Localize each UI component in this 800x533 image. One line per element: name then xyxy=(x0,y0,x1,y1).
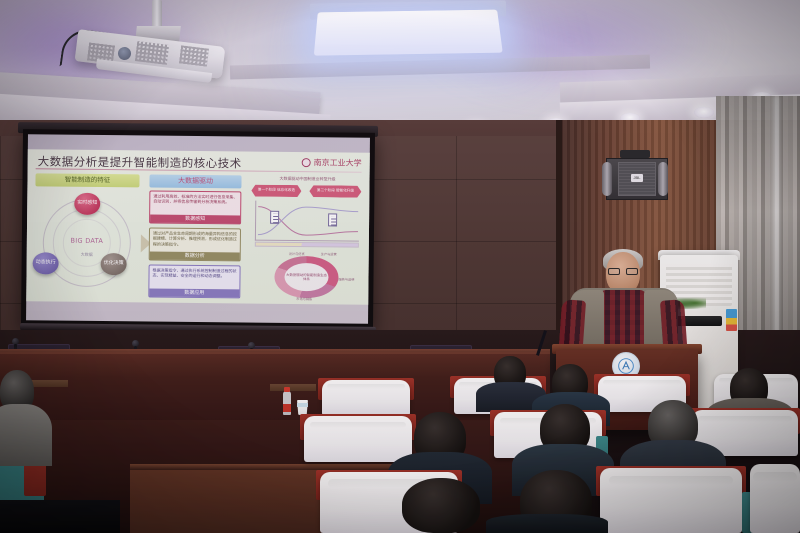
cycle-diagram: BIG DATA 大数据 实时感知 动态执行 优化决策 xyxy=(34,190,139,295)
podium-crest-icon xyxy=(618,358,634,374)
data-sensing-label: 数据感知 xyxy=(150,214,240,223)
data-analysis-text: 通过对产品全生命周期形成的海量异构信息的挖掘建模、计算分析、推理预测，形成优化制… xyxy=(153,231,237,247)
downlight xyxy=(694,107,714,118)
university-crest-icon xyxy=(302,158,311,167)
projector-vent xyxy=(179,45,209,66)
data-application-label: 数据应用 xyxy=(149,288,239,297)
slide-middle-column: 大数据驱动 通过利用高效、标准的方法实时进行信息采集、自动识别，并将信息传输到分… xyxy=(148,174,241,301)
cycle-node-optimized-decision: 优化决策 xyxy=(101,253,127,275)
timeline-band xyxy=(255,242,359,248)
university-name: 南京工业大学 xyxy=(314,157,362,169)
data-analysis-label: 数据分析 xyxy=(150,251,240,260)
audience-shoulders xyxy=(0,404,52,466)
projected-slide: 大数据分析是提升智能制造的核心技术 南京工业大学 智能制造的特征 BIG DAT… xyxy=(26,149,370,305)
slide-university-logo: 南京工业大学 xyxy=(302,157,362,169)
donut-label-0: 设计与仿真 xyxy=(289,251,305,256)
chart-icon-right xyxy=(328,213,337,226)
bottle-cap xyxy=(284,387,290,392)
projection-screen: 大数据分析是提升智能制造的核心技术 南京工业大学 智能制造的特征 BIG DAT… xyxy=(21,129,375,329)
data-application-box: 根据决策指令，通过执行系统控制制造过程的状态、实现精益、安全的运行和动态调整。 … xyxy=(148,264,240,298)
data-analysis-box: 通过对产品全生命周期形成的海量异构信息的挖掘建模、计算分析、推理预测，形成优化制… xyxy=(149,227,241,261)
donut-label-1: 生产与运营 xyxy=(321,251,337,256)
jbl-logo: JBL xyxy=(631,174,643,182)
audience-head xyxy=(402,478,480,533)
audience-seat xyxy=(750,464,800,533)
ac-energy-label xyxy=(726,309,737,331)
speaker-cylinder-left xyxy=(602,162,612,196)
slide-left-column: 智能制造的特征 BIG DATA 大数据 实时感知 动态执行 优化决策 xyxy=(34,173,139,300)
ceiling-light-panel xyxy=(314,10,503,56)
water-bottle xyxy=(283,391,291,415)
data-sensing-text: 通过利用高效、标准的方法实时进行信息采集、自动识别，并将信息传输到分析决策系统。 xyxy=(153,194,237,205)
speaker-cylinder-right xyxy=(658,162,668,196)
phase-one-arrow: 第一个阶段 信息化改造 xyxy=(251,185,301,198)
phase-two-arrow: 第二个阶段 智能化升级 xyxy=(309,185,361,198)
projector-vent xyxy=(135,41,169,65)
middle-column-header: 大数据驱动 xyxy=(149,174,241,188)
donut-center-label: 大数据驱动的智能制造生态体系 xyxy=(284,263,328,291)
foreground-shadow xyxy=(0,500,120,533)
ecosystem-donut-diagram: 大数据驱动的智能制造生态体系 设计与仿真 生产与运营 服务与运维 市场与销售 xyxy=(266,254,346,301)
audience-seat xyxy=(600,468,742,533)
chart-icon-left xyxy=(270,211,279,224)
projector-mount-pole xyxy=(152,0,162,28)
speaker-wall-mount xyxy=(620,150,650,158)
presenter-glasses-icon xyxy=(608,268,639,275)
right-column-header: 大数据驱动中国制造业转型升级 xyxy=(251,176,363,183)
audience-seat xyxy=(322,380,410,416)
paper-cup-band xyxy=(297,403,308,407)
transition-chart xyxy=(255,201,359,242)
donut-label-3: 市场与销售 xyxy=(296,296,312,301)
left-column-header: 智能制造的特征 xyxy=(35,173,139,187)
slide-right-column: 大数据驱动中国制造业转型升级 第一个阶段 信息化改造 第二个阶段 智能化升级 大… xyxy=(250,176,363,303)
donut-label-2: 服务与运维 xyxy=(338,276,354,281)
data-application-text: 根据决策指令，通过执行系统控制制造过程的状态、实现精益、安全的运行和动态调整。 xyxy=(152,268,236,279)
cycle-node-realtime-sensing: 实时感知 xyxy=(74,193,100,215)
audience-seat xyxy=(304,416,412,462)
desk-name-plate xyxy=(270,384,316,391)
big-data-sublabel: 大数据 xyxy=(81,252,93,258)
lecture-room-photo: JBL 大数据分析是提升智能制造的核心技术 南京工业大学 智能制造的特征 BIG… xyxy=(0,0,800,533)
cycle-node-dynamic-execution: 动态执行 xyxy=(33,252,59,274)
data-sensing-box: 通过利用高效、标准的方法实时进行信息采集、自动识别，并将信息传输到分析决策系统。… xyxy=(149,190,241,224)
audience-shoulders xyxy=(486,514,608,533)
big-data-label: BIG DATA xyxy=(71,237,104,245)
